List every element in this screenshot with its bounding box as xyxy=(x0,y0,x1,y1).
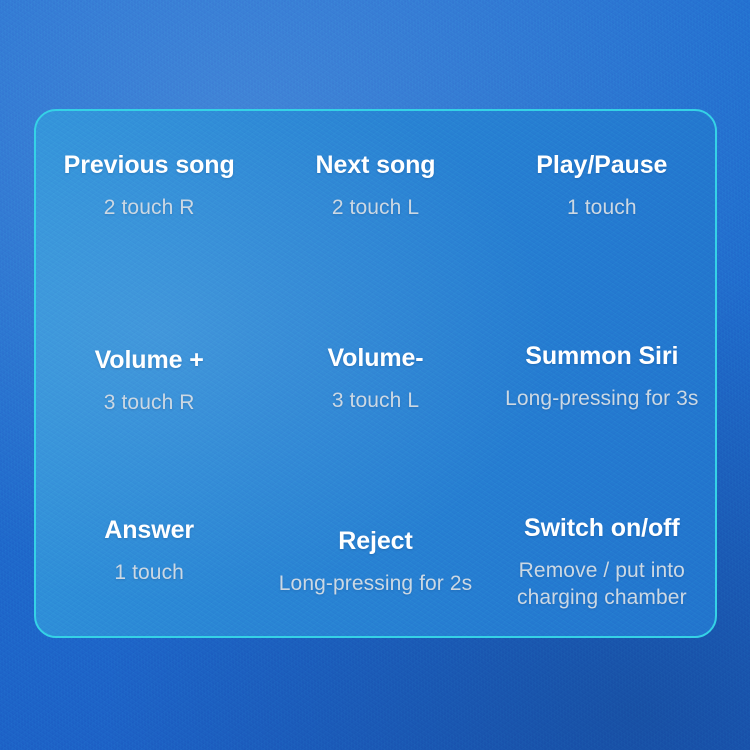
gesture-title: Switch on/off xyxy=(524,514,680,543)
gesture-description: Long-pressing for 3s xyxy=(505,385,698,413)
gesture-item-next-song: Next song 2 touch L xyxy=(262,111,488,286)
gesture-grid: Previous song 2 touch R Next song 2 touc… xyxy=(36,111,715,636)
gesture-item-volume-down: Volume- 3 touch L xyxy=(262,286,488,461)
gesture-title: Summon Siri xyxy=(525,342,678,371)
gesture-description: 1 touch xyxy=(114,559,184,587)
gesture-title: Reject xyxy=(338,527,412,556)
gesture-item-switch-on-off: Switch on/off Remove / put into charging… xyxy=(489,461,715,636)
gesture-title: Answer xyxy=(104,516,194,545)
gesture-guide-card: Previous song 2 touch R Next song 2 touc… xyxy=(34,109,717,638)
gesture-item-play-pause: Play/Pause 1 touch xyxy=(489,111,715,286)
gesture-title: Next song xyxy=(316,151,436,180)
gesture-description: Remove / put into charging chamber xyxy=(497,557,707,612)
gesture-item-volume-up: Volume + 3 touch R xyxy=(36,286,262,461)
gesture-item-reject: Reject Long-pressing for 2s xyxy=(262,461,488,636)
gesture-description: 3 touch R xyxy=(104,389,195,417)
gesture-item-previous-song: Previous song 2 touch R xyxy=(36,111,262,286)
gesture-description: 2 touch L xyxy=(332,194,419,222)
gesture-title: Previous song xyxy=(64,151,235,180)
gesture-title: Play/Pause xyxy=(536,151,667,180)
gesture-item-summon-siri: Summon Siri Long-pressing for 3s xyxy=(489,286,715,461)
gesture-item-answer: Answer 1 touch xyxy=(36,461,262,636)
gesture-description: 3 touch L xyxy=(332,387,419,415)
gesture-description: 2 touch R xyxy=(104,194,195,222)
gesture-description: Long-pressing for 2s xyxy=(279,570,472,598)
gesture-description: 1 touch xyxy=(567,194,637,222)
gesture-title: Volume + xyxy=(95,346,204,375)
gesture-title: Volume- xyxy=(327,344,423,373)
